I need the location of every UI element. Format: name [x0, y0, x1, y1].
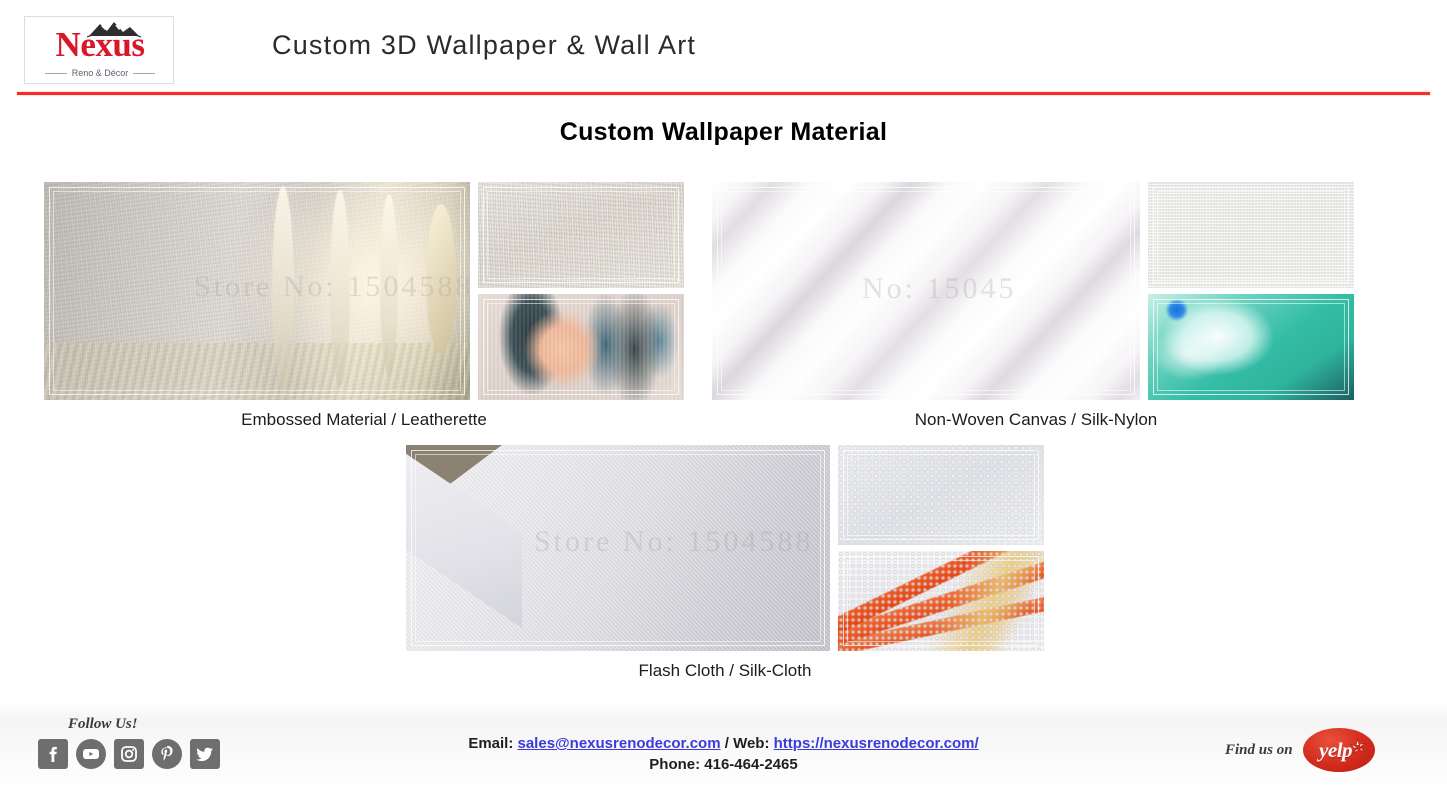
material-caption: Non-Woven Canvas / Silk-Nylon [712, 410, 1360, 430]
material-caption: Flash Cloth / Silk-Cloth [406, 661, 1044, 681]
image-watermark: Store No: 1504588 [534, 525, 813, 559]
image-watermark: No: 15045 [862, 272, 1017, 306]
photo-inner-frame [1153, 187, 1349, 283]
material-caption: Embossed Material / Leatherette [44, 410, 684, 430]
material-detail-column [838, 445, 1044, 651]
page-header: Nexus Reno & Décor Custom 3D Wallpaper &… [0, 0, 1447, 95]
material-image-set: No: 15045 [712, 182, 1354, 400]
page-title: Custom 3D Wallpaper & Wall Art [272, 30, 696, 61]
material-detail-column [478, 182, 684, 400]
material-main-photo[interactable]: Store No: 1504588 [406, 445, 830, 651]
material-image-set: Store No: 1504588 [44, 182, 684, 400]
material-detail-photo-1[interactable] [478, 182, 684, 288]
photo-inner-frame [483, 299, 679, 395]
material-detail-photo-2[interactable] [1148, 294, 1354, 400]
roll-edge-2 [330, 190, 350, 386]
photo-inner-frame [483, 187, 679, 283]
brand-tagline: Reno & Décor [72, 68, 129, 78]
yelp-block[interactable]: Find us on yelp [1225, 728, 1375, 772]
contact-separator: / [725, 735, 729, 752]
tagline-rule-right [133, 73, 155, 74]
photo-inner-frame [843, 556, 1039, 646]
photo-inner-frame [843, 450, 1039, 540]
material-image-set: Store No: 1504588 [406, 445, 1044, 651]
brand-tagline-wrap: Reno & Décor [25, 68, 175, 78]
follow-us-label: Follow Us! [68, 716, 268, 733]
material-detail-photo-1[interactable] [838, 445, 1044, 545]
photo-background-texture [44, 343, 470, 400]
website-link[interactable]: https://nexusrenodecor.com/ [774, 735, 979, 752]
material-card-nonwoven: No: 15045 Non-Woven Canvas / Silk-Nylon [712, 182, 1360, 437]
header-divider [17, 92, 1430, 95]
material-main-photo[interactable]: No: 15045 [712, 182, 1140, 400]
roll-core [426, 204, 456, 354]
material-detail-column [1148, 182, 1354, 400]
roll-edge-1 [272, 186, 294, 394]
photo-inner-frame [717, 187, 1135, 395]
material-main-photo[interactable]: Store No: 1504588 [44, 182, 470, 400]
email-label: Email: [468, 735, 513, 752]
material-card-embossed: Store No: 1504588 Embossed Material / Le… [44, 182, 684, 437]
yelp-badge[interactable]: yelp [1303, 728, 1375, 772]
yelp-label: Find us on [1225, 742, 1293, 759]
photo-inner-frame [1153, 299, 1349, 395]
section-title: Custom Wallpaper Material [0, 118, 1447, 147]
brand-logo[interactable]: Nexus Reno & Décor [24, 16, 174, 84]
material-detail-photo-1[interactable] [1148, 182, 1354, 288]
material-card-flashcloth: Store No: 1504588 Flash Cloth / Silk-Clo… [406, 445, 1044, 695]
email-link[interactable]: sales@nexusrenodecor.com [518, 735, 721, 752]
material-detail-photo-2[interactable] [838, 551, 1044, 651]
yelp-burst-icon [1348, 737, 1368, 757]
brand-name: Nexus [25, 25, 175, 65]
web-label: Web: [733, 735, 769, 752]
material-detail-photo-2[interactable] [478, 294, 684, 400]
tagline-rule-left [45, 73, 67, 74]
roll-edge-3 [380, 194, 398, 376]
